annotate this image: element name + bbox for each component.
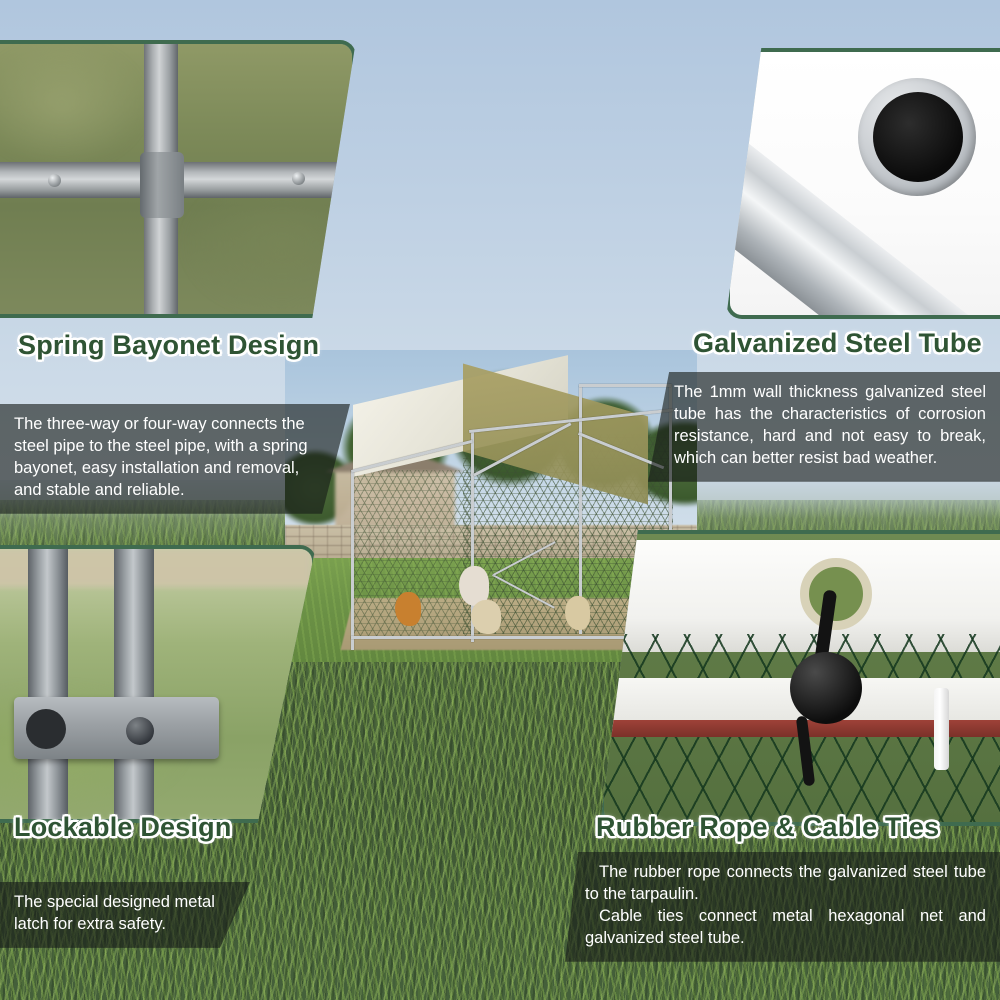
photo-steel-tube xyxy=(730,52,1000,315)
feature-description-rubber-rope-cable-ties: The rubber rope connects the galvanized … xyxy=(565,852,1000,962)
feature-description-galvanized-steel-tube: The 1mm wall thickness galvanized steel … xyxy=(648,372,1000,482)
steel-post xyxy=(28,545,68,823)
feature-heading-galvanized-steel-tube: Galvanized Steel Tube xyxy=(693,328,982,359)
latch-screw xyxy=(126,717,154,745)
bayonet-joint xyxy=(140,152,184,218)
chicken xyxy=(565,596,590,630)
infographic-canvas: Spring Bayonet Design Galvanized Steel T… xyxy=(0,0,1000,1000)
feature-heading-spring-bayonet: Spring Bayonet Design xyxy=(18,330,319,361)
feature-heading-lockable-design: Lockable Design xyxy=(14,812,232,843)
description-line: The special designed metal latch for ext… xyxy=(14,892,226,936)
description-line: The rubber rope connects the galvanized … xyxy=(585,862,986,906)
chicken xyxy=(471,600,501,634)
chicken-coop-structure xyxy=(343,374,673,644)
spring-bolt-icon xyxy=(292,172,305,185)
cable-tie xyxy=(934,688,949,770)
steel-post xyxy=(114,545,154,823)
photo-pipe-cross xyxy=(0,44,352,314)
description-line: The 1mm wall thickness galvanized steel … xyxy=(674,382,986,470)
feature-description-spring-bayonet: The three-way or four-way connects the s… xyxy=(0,404,350,514)
feature-description-lockable-design: The special designed metal latch for ext… xyxy=(0,882,250,948)
description-line: The three-way or four-way connects the s… xyxy=(14,414,324,502)
photo-rope-ties xyxy=(604,534,1000,822)
chicken xyxy=(395,592,421,626)
feature-photo-rope-and-ties xyxy=(600,530,1000,826)
latch-hook xyxy=(26,709,66,749)
metal-latch xyxy=(14,697,219,759)
photo-latch xyxy=(0,549,312,819)
rubber-rope-ball xyxy=(790,652,862,724)
tube-bore xyxy=(873,92,963,182)
spring-bolt-icon xyxy=(48,174,61,187)
feature-photo-galvanized-tube xyxy=(726,48,1000,319)
description-line: Cable ties connect metal hexagonal net a… xyxy=(585,906,986,950)
feature-heading-rubber-rope-cable-ties: Rubber Rope & Cable Ties xyxy=(596,812,939,843)
feature-photo-spring-bayonet xyxy=(0,40,356,318)
